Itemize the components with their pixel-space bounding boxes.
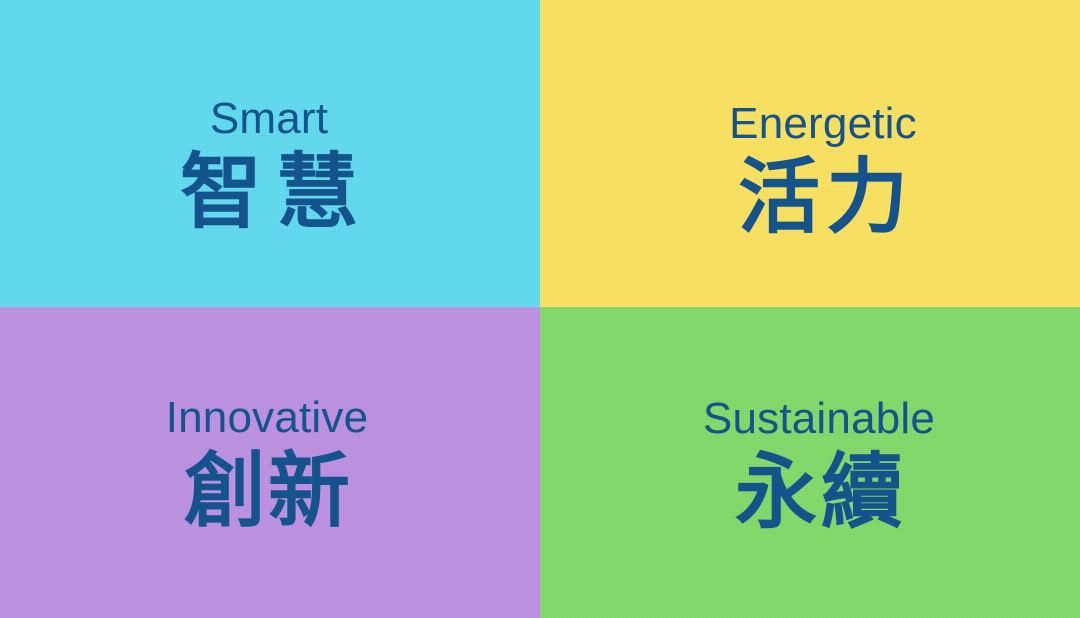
- quadrant-label-zh-innovative: 創新: [182, 446, 352, 538]
- quadrant-text-block-smart: Smart 智慧: [166, 96, 372, 238]
- quadrant-label-zh-smart: 智慧: [166, 147, 372, 239]
- quadrant-text-block-sustainable: Sustainable 永續: [703, 396, 935, 538]
- quadrant-energetic[interactable]: Energetic 活力: [540, 0, 1080, 307]
- quadrant-text-block-energetic: Energetic 活力: [729, 101, 917, 243]
- quadrant-label-zh-sustainable: 永續: [731, 447, 907, 539]
- quadrant-label-zh-energetic: 活力: [732, 152, 914, 244]
- quadrant-innovative[interactable]: Innovative 創新: [0, 307, 540, 618]
- quadrant-label-en-innovative: Innovative: [166, 395, 369, 441]
- quadrant-sustainable[interactable]: Sustainable 永續: [540, 307, 1080, 618]
- quadrant-label-en-smart: Smart: [210, 96, 328, 142]
- quadrant-text-block-innovative: Innovative 創新: [166, 395, 369, 537]
- quadrant-label-en-sustainable: Sustainable: [703, 396, 935, 442]
- quadrant-smart[interactable]: Smart 智慧: [0, 0, 540, 307]
- quadrant-label-en-energetic: Energetic: [729, 101, 917, 147]
- brand-values-grid: Smart 智慧 Energetic 活力 Innovative 創新 Sust…: [0, 0, 1080, 618]
